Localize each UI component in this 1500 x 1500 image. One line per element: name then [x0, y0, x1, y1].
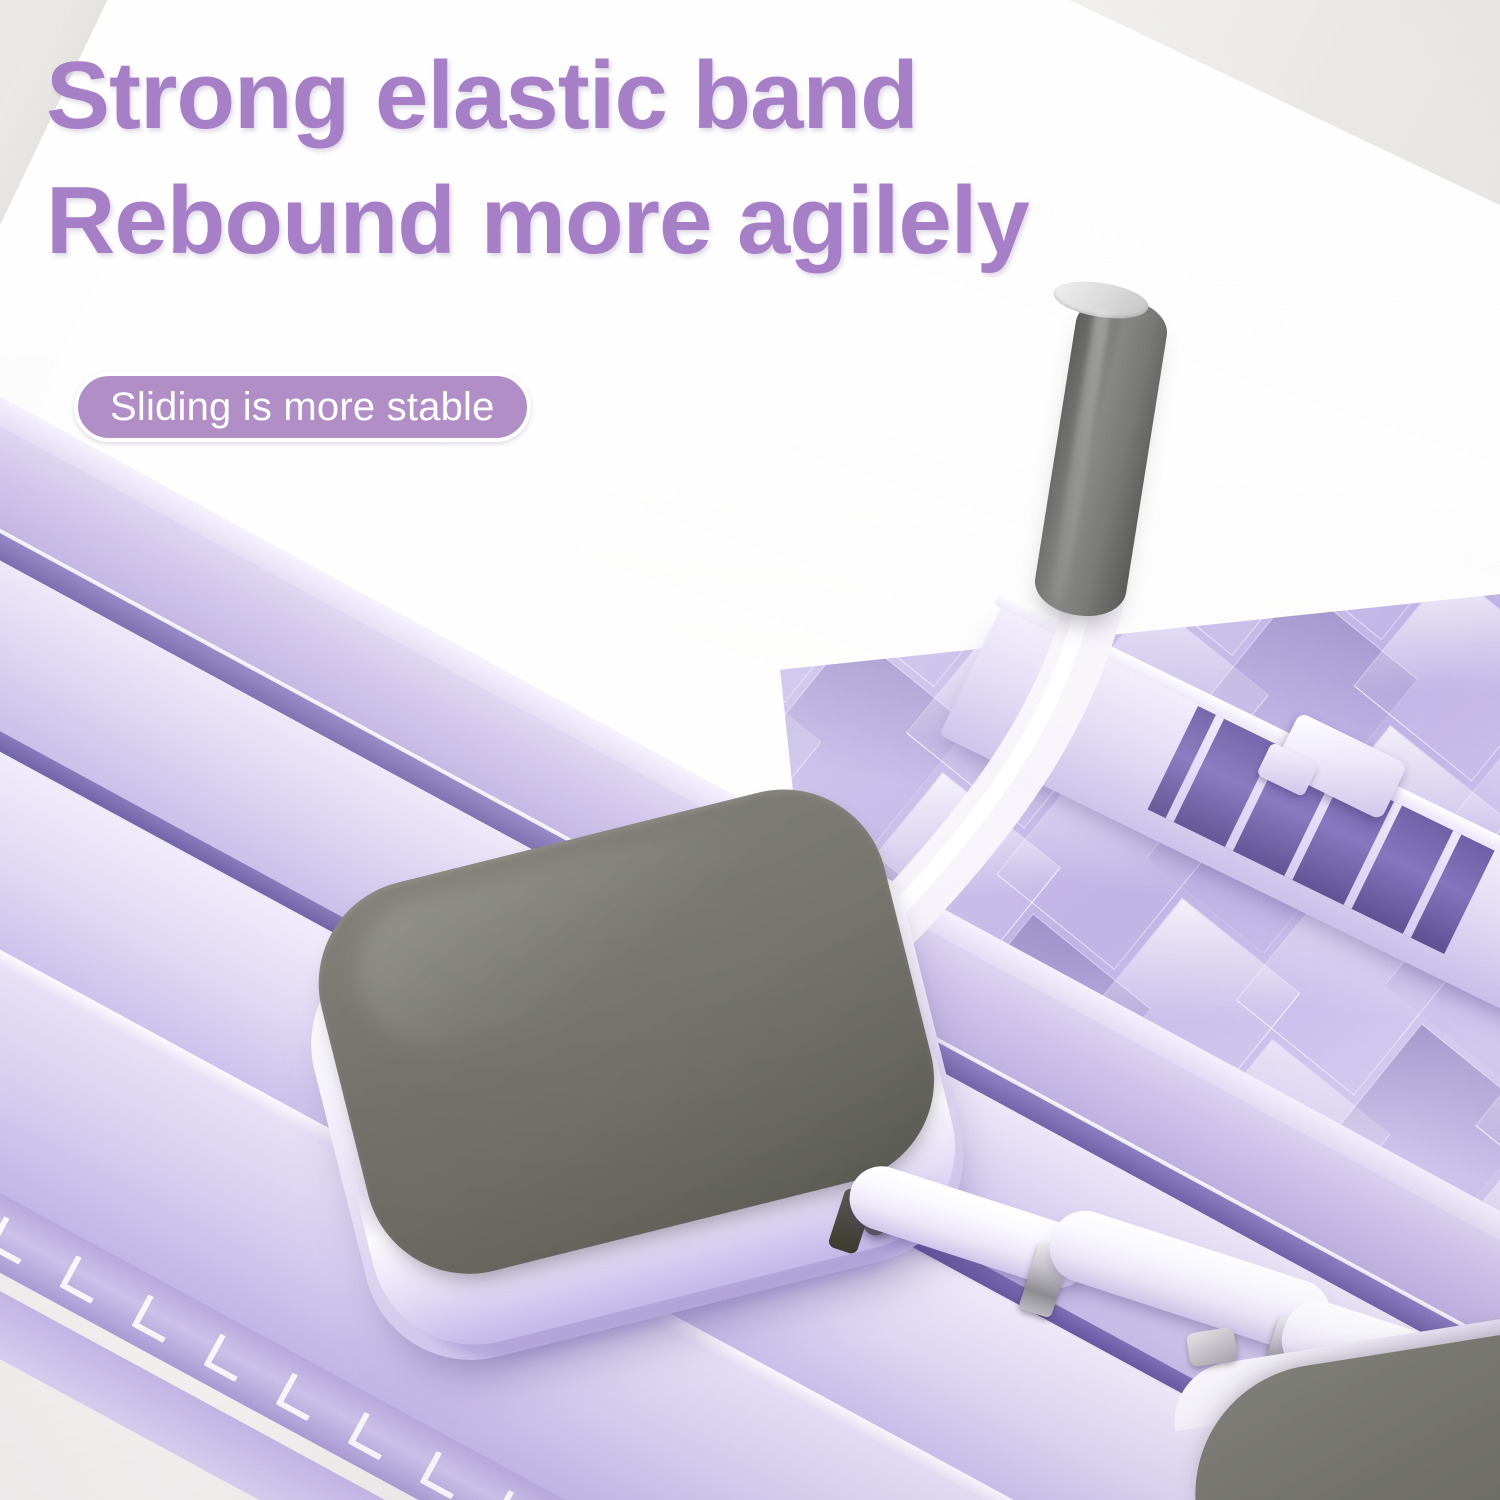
groove-chevron-light: [347, 1412, 396, 1461]
groove-chevron-light: [0, 1216, 36, 1265]
cavity-rib: [1344, 802, 1403, 909]
groove-chevron-light: [59, 1255, 108, 1304]
groove-chevron-light: [131, 1294, 180, 1343]
product-feature-image: Strong elastic band Rebound more agilely…: [0, 0, 1500, 1500]
cavity-rib: [1403, 830, 1462, 937]
feature-badge: Sliding is more stable: [74, 372, 531, 442]
groove-chevron-light: [420, 1451, 469, 1500]
headline-text: Strong elastic band Rebound more agilely: [46, 34, 1326, 284]
groove-chevron-light: [275, 1372, 324, 1421]
groove-chevron-light: [203, 1333, 252, 1382]
groove-chevron-light: [492, 1490, 541, 1500]
